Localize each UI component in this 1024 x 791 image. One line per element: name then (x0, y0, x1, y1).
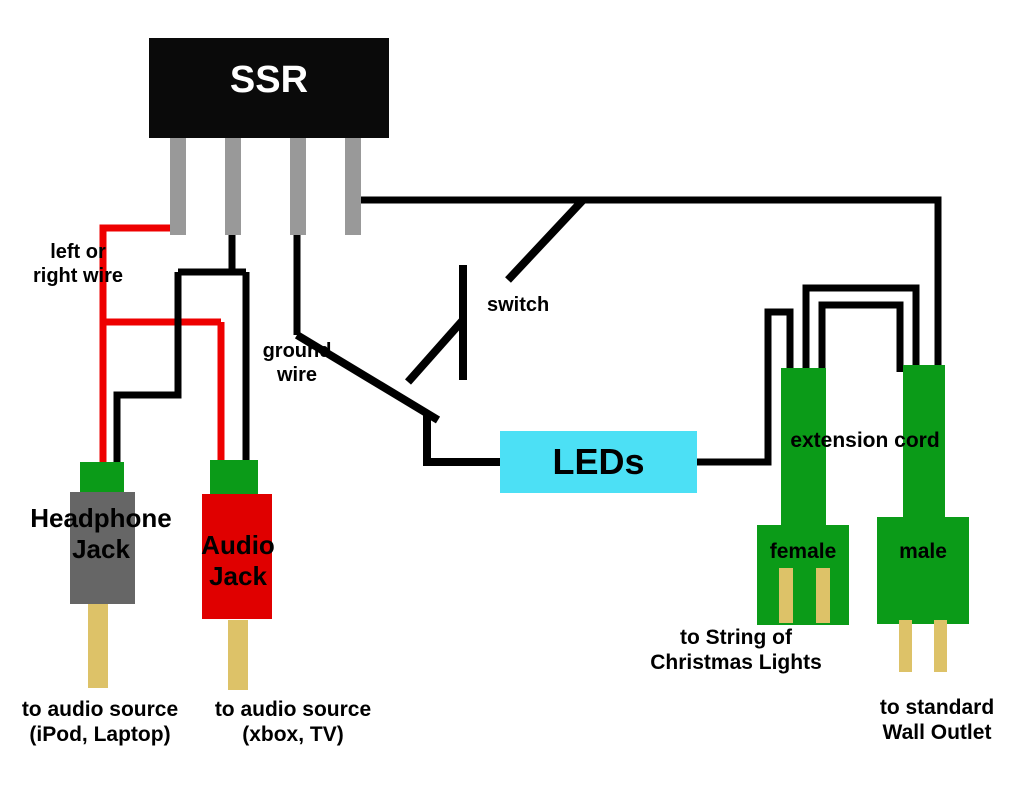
female-caption: to String of Christmas Lights (626, 626, 846, 676)
ssr-pin-3 (290, 135, 306, 235)
component-layer (0, 0, 1024, 791)
male-caption: to standard Wall Outlet (853, 696, 1021, 746)
headphone-jack-cable (88, 600, 108, 688)
audio-jack-label: Audio Jack (186, 530, 290, 591)
left-or-right-wire-label: left or right wire (14, 241, 142, 288)
wiring-diagram-canvas: SSR LEDs left or right wire ground wire … (0, 0, 1024, 791)
extension-cord-male-head[interactable] (877, 517, 969, 624)
ssr-pin-4 (345, 135, 361, 235)
female-slot-right (816, 568, 830, 623)
audio-jack-caption: to audio source (xbox, TV) (203, 698, 383, 748)
ground-wire-label: ground wire (249, 340, 345, 387)
female-slot-left (779, 568, 793, 623)
audio-jack-cable (228, 620, 248, 690)
ssr-pin-1 (170, 135, 186, 235)
male-prong-left (899, 620, 912, 672)
ssr-pin-2 (225, 135, 241, 235)
male-label: male (877, 540, 969, 565)
switch-label: switch (487, 294, 607, 318)
female-label: female (757, 540, 849, 565)
male-prong-right (934, 620, 947, 672)
leds-label: LEDs (500, 441, 697, 483)
extension-cord-label: extension cord (773, 429, 957, 454)
headphone-jack-label: Headphone Jack (8, 503, 194, 564)
ssr-label: SSR (149, 58, 389, 103)
headphone-jack-caption: to audio source (iPod, Laptop) (2, 698, 198, 748)
